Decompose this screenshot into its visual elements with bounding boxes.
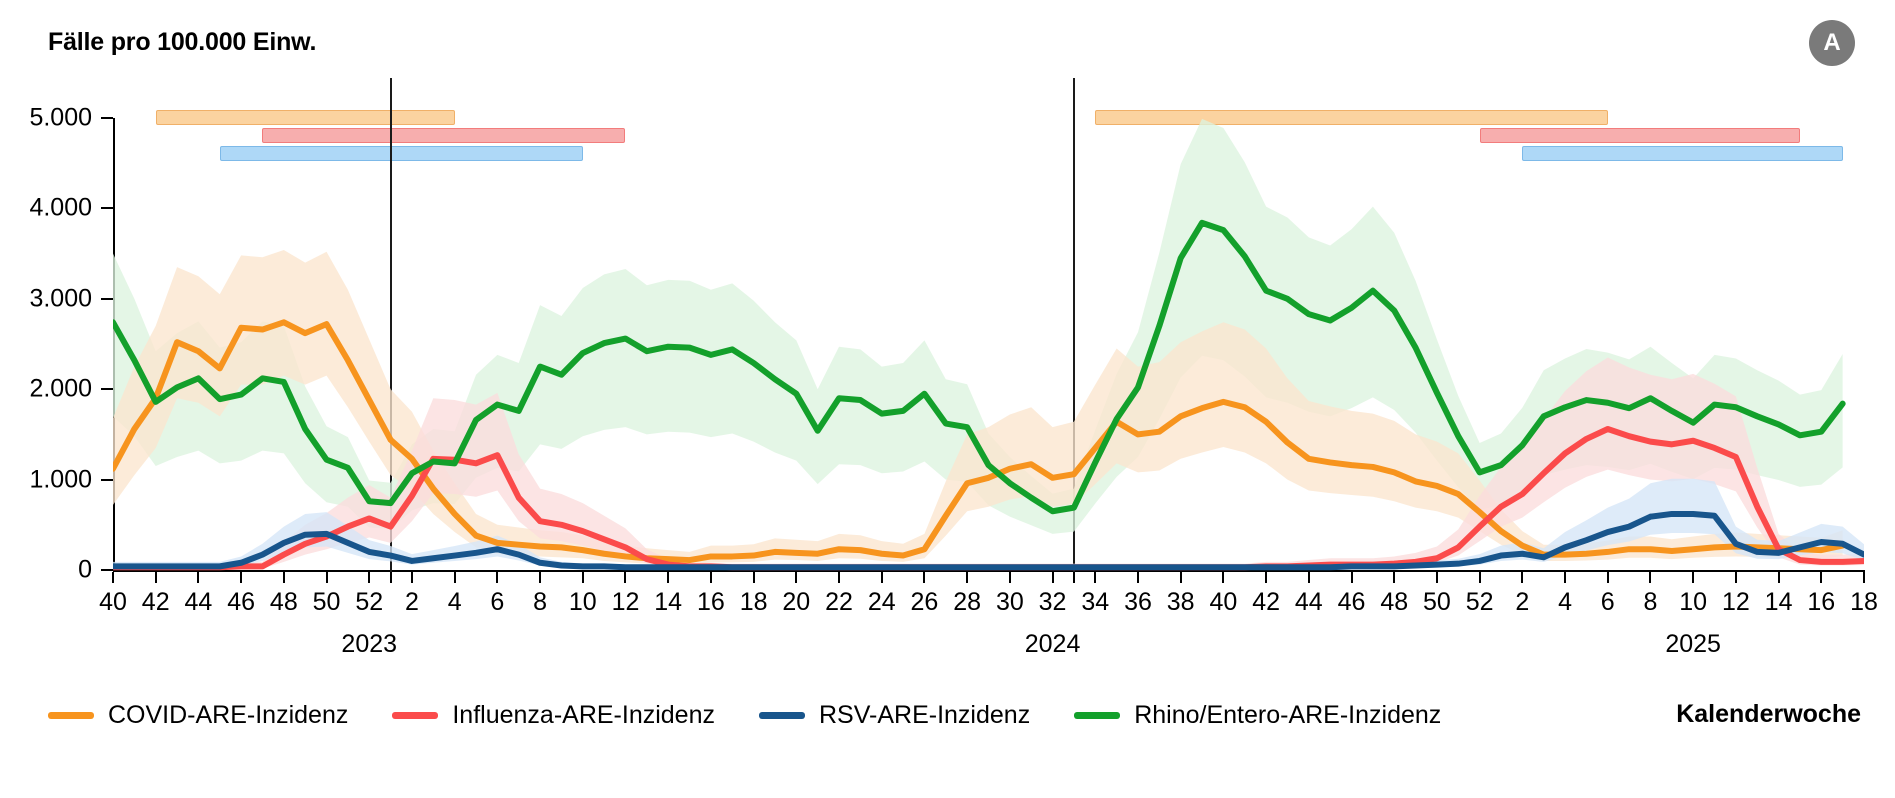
x-tick-label: 34	[1081, 588, 1109, 617]
x-tick-label: 14	[1765, 588, 1793, 617]
x-tick-mark	[582, 572, 584, 583]
x-tick-mark	[753, 572, 755, 583]
x-axis-title: Kalenderwoche	[1676, 700, 1861, 729]
x-tick-label: 4	[448, 588, 462, 617]
x-tick-mark	[1436, 572, 1438, 583]
x-tick-mark	[1778, 572, 1780, 583]
x-tick-mark	[1393, 572, 1395, 583]
x-tick-label: 10	[1679, 588, 1707, 617]
y-tick-mark	[101, 479, 113, 481]
y-tick-label: 4.000	[0, 194, 92, 223]
x-tick-mark	[155, 572, 157, 583]
y-tick-label: 3.000	[0, 284, 92, 313]
x-tick-label: 12	[612, 588, 640, 617]
legend-item-3[interactable]: Rhino/Entero-ARE-Inzidenz	[1074, 701, 1441, 730]
plot-area	[113, 75, 1864, 572]
legend-color-swatch	[392, 712, 438, 719]
x-tick-mark	[240, 572, 242, 583]
x-tick-mark	[539, 572, 541, 583]
x-tick-label: 38	[1167, 588, 1195, 617]
legend-item-1[interactable]: Influenza-ARE-Inzidenz	[392, 701, 715, 730]
x-tick-mark	[881, 572, 883, 583]
x-tick-mark	[1137, 572, 1139, 583]
page-title: Fälle pro 100.000 Einw.	[48, 28, 316, 57]
x-tick-label: 24	[868, 588, 896, 617]
x-tick-mark	[326, 572, 328, 583]
y-tick-mark	[101, 298, 113, 300]
x-tick-mark	[795, 572, 797, 583]
x-tick-label: 52	[355, 588, 383, 617]
x-tick-mark	[1351, 572, 1353, 583]
x-tick-mark	[1735, 572, 1737, 583]
legend-label: Rhino/Entero-ARE-Inzidenz	[1134, 701, 1441, 730]
y-tick-mark	[101, 388, 113, 390]
x-tick-mark	[667, 572, 669, 583]
legend-label: Influenza-ARE-Inzidenz	[452, 701, 715, 730]
legend-color-swatch	[48, 712, 94, 719]
x-tick-mark	[624, 572, 626, 583]
x-tick-label: 2	[405, 588, 419, 617]
x-tick-mark	[1180, 572, 1182, 583]
y-tick-mark	[101, 569, 113, 571]
x-tick-mark	[496, 572, 498, 583]
legend-color-swatch	[759, 712, 805, 719]
x-tick-label: 16	[697, 588, 725, 617]
x-tick-mark	[966, 572, 968, 583]
x-tick-mark	[197, 572, 199, 583]
x-tick-mark	[1863, 572, 1865, 583]
x-tick-mark	[710, 572, 712, 583]
x-tick-label: 8	[533, 588, 547, 617]
y-tick-mark	[101, 207, 113, 209]
x-tick-label: 22	[825, 588, 853, 617]
x-tick-mark	[454, 572, 456, 583]
x-tick-mark	[1564, 572, 1566, 583]
x-tick-mark	[1094, 572, 1096, 583]
x-tick-label: 18	[1850, 588, 1878, 617]
x-tick-label: 44	[1295, 588, 1323, 617]
x-tick-label: 10	[569, 588, 597, 617]
chart-panel: Fälle pro 100.000 Einw. A 01.0002.0003.0…	[0, 0, 1895, 798]
x-tick-label: 28	[953, 588, 981, 617]
x-tick-mark	[1052, 572, 1054, 583]
x-tick-label: 18	[740, 588, 768, 617]
series-canvas	[113, 75, 1864, 572]
x-tick-label: 14	[654, 588, 682, 617]
x-axis-year-label: 2024	[1025, 630, 1081, 659]
x-tick-mark	[1521, 572, 1523, 583]
x-tick-mark	[1479, 572, 1481, 583]
x-tick-label: 4	[1558, 588, 1572, 617]
panel-badge: A	[1809, 20, 1855, 66]
x-tick-label: 42	[142, 588, 170, 617]
legend-item-2[interactable]: RSV-ARE-Inzidenz	[759, 701, 1030, 730]
legend-label: COVID-ARE-Inzidenz	[108, 701, 348, 730]
x-tick-mark	[838, 572, 840, 583]
x-tick-label: 48	[1380, 588, 1408, 617]
x-tick-label: 8	[1644, 588, 1658, 617]
x-tick-mark	[368, 572, 370, 583]
x-tick-label: 26	[911, 588, 939, 617]
x-tick-label: 40	[99, 588, 127, 617]
x-tick-mark	[1009, 572, 1011, 583]
x-tick-label: 42	[1252, 588, 1280, 617]
x-tick-label: 20	[782, 588, 810, 617]
legend: COVID-ARE-InzidenzInfluenza-ARE-Inzidenz…	[48, 700, 1485, 730]
x-tick-mark	[112, 572, 114, 583]
x-tick-mark	[1222, 572, 1224, 583]
x-tick-label: 50	[313, 588, 341, 617]
x-tick-label: 46	[227, 588, 255, 617]
x-tick-label: 6	[490, 588, 504, 617]
x-axis-year-label: 2025	[1665, 630, 1721, 659]
x-tick-label: 44	[185, 588, 213, 617]
x-tick-mark	[411, 572, 413, 583]
x-tick-mark	[1692, 572, 1694, 583]
x-tick-label: 48	[270, 588, 298, 617]
x-tick-label: 12	[1722, 588, 1750, 617]
x-tick-label: 52	[1466, 588, 1494, 617]
y-tick-mark	[101, 117, 113, 119]
x-tick-label: 16	[1807, 588, 1835, 617]
legend-item-0[interactable]: COVID-ARE-Inzidenz	[48, 701, 348, 730]
x-tick-label: 6	[1601, 588, 1615, 617]
x-tick-label: 2	[1515, 588, 1529, 617]
x-tick-mark	[1308, 572, 1310, 583]
x-tick-mark	[1607, 572, 1609, 583]
y-tick-label: 0	[0, 556, 92, 585]
x-tick-label: 30	[996, 588, 1024, 617]
y-tick-label: 5.000	[0, 104, 92, 133]
x-tick-mark	[1265, 572, 1267, 583]
x-tick-label: 40	[1209, 588, 1237, 617]
x-tick-mark	[1649, 572, 1651, 583]
y-tick-label: 2.000	[0, 375, 92, 404]
legend-label: RSV-ARE-Inzidenz	[819, 701, 1030, 730]
x-tick-mark	[923, 572, 925, 583]
x-tick-mark	[1820, 572, 1822, 583]
x-tick-mark	[283, 572, 285, 583]
x-tick-label: 46	[1338, 588, 1366, 617]
x-axis-year-label: 2023	[341, 630, 397, 659]
y-tick-label: 1.000	[0, 465, 92, 494]
legend-color-swatch	[1074, 712, 1120, 719]
x-tick-label: 50	[1423, 588, 1451, 617]
x-tick-label: 32	[1039, 588, 1067, 617]
x-tick-label: 36	[1124, 588, 1152, 617]
